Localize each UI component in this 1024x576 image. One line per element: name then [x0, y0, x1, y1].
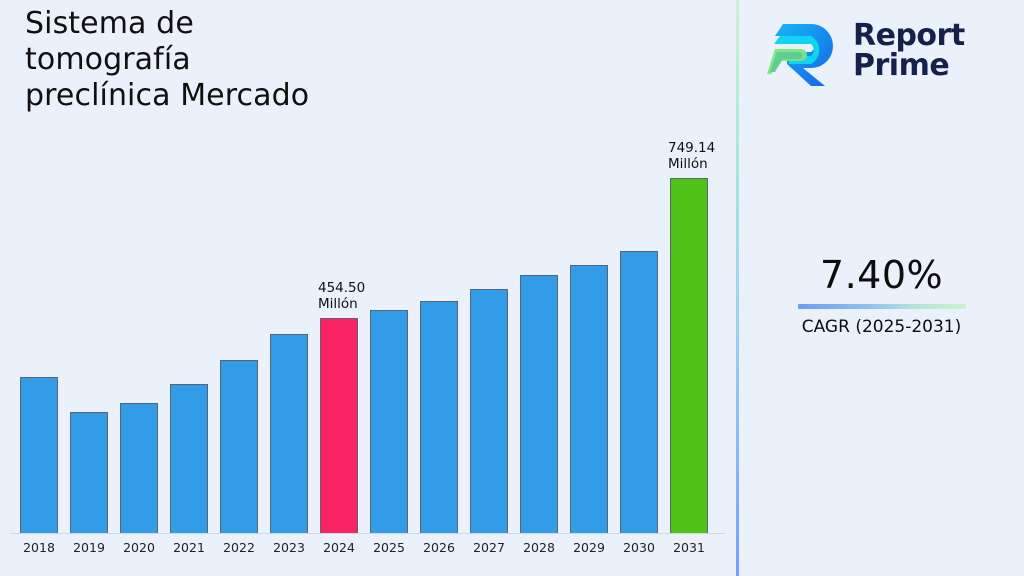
- x-tick-label-2018: 2018: [14, 540, 64, 555]
- bar-value-label-2024: 454.50 Millón: [318, 280, 408, 312]
- cagr-caption: CAGR (2025-2031): [739, 316, 1024, 338]
- x-tick-label-2029: 2029: [564, 540, 614, 555]
- bar-2022[interactable]: [220, 360, 258, 533]
- bar-2023[interactable]: [270, 334, 308, 533]
- x-tick-label-2027: 2027: [464, 540, 514, 555]
- x-tick-label-2022: 2022: [214, 540, 264, 555]
- x-tick-label-2019: 2019: [64, 540, 114, 555]
- bar-chart-plot: 2018201920202021202220232024454.50 Milló…: [0, 0, 737, 576]
- brand-logo: Report Prime: [767, 12, 1007, 90]
- x-tick-label-2021: 2021: [164, 540, 214, 555]
- x-tick-label-2026: 2026: [414, 540, 464, 555]
- brand-panel: Report Prime 7.40% CAGR (2025-2031): [739, 0, 1024, 576]
- x-tick-label-2031: 2031: [664, 540, 714, 555]
- x-tick-label-2030: 2030: [614, 540, 664, 555]
- x-tick-label-2020: 2020: [114, 540, 164, 555]
- brand-name: Report Prime: [853, 21, 965, 81]
- bar-2027[interactable]: [470, 289, 508, 533]
- bar-2021[interactable]: [170, 384, 208, 533]
- cagr-divider-rule: [798, 304, 966, 309]
- bar-2031[interactable]: [670, 178, 708, 533]
- bar-2024[interactable]: [320, 318, 358, 533]
- bar-2019[interactable]: [70, 412, 108, 533]
- bar-2018[interactable]: [20, 377, 58, 533]
- report-prime-r-logo-icon: [767, 16, 841, 86]
- chart-panel: Sistema de tomografía preclínica Mercado…: [0, 0, 737, 576]
- x-tick-label-2024: 2024: [314, 540, 364, 555]
- bar-2030[interactable]: [620, 251, 658, 533]
- bar-2025[interactable]: [370, 310, 408, 533]
- bar-2020[interactable]: [120, 403, 158, 533]
- cagr-value: 7.40%: [739, 252, 1024, 298]
- bar-2028[interactable]: [520, 275, 558, 533]
- x-tick-label-2025: 2025: [364, 540, 414, 555]
- bar-2026[interactable]: [420, 301, 458, 533]
- x-axis-line: [10, 533, 725, 534]
- bar-2029[interactable]: [570, 265, 608, 533]
- x-tick-label-2023: 2023: [264, 540, 314, 555]
- cagr-block: 7.40% CAGR (2025-2031): [739, 252, 1024, 338]
- x-tick-label-2028: 2028: [514, 540, 564, 555]
- poster-root: Sistema de tomografía preclínica Mercado…: [0, 0, 1024, 576]
